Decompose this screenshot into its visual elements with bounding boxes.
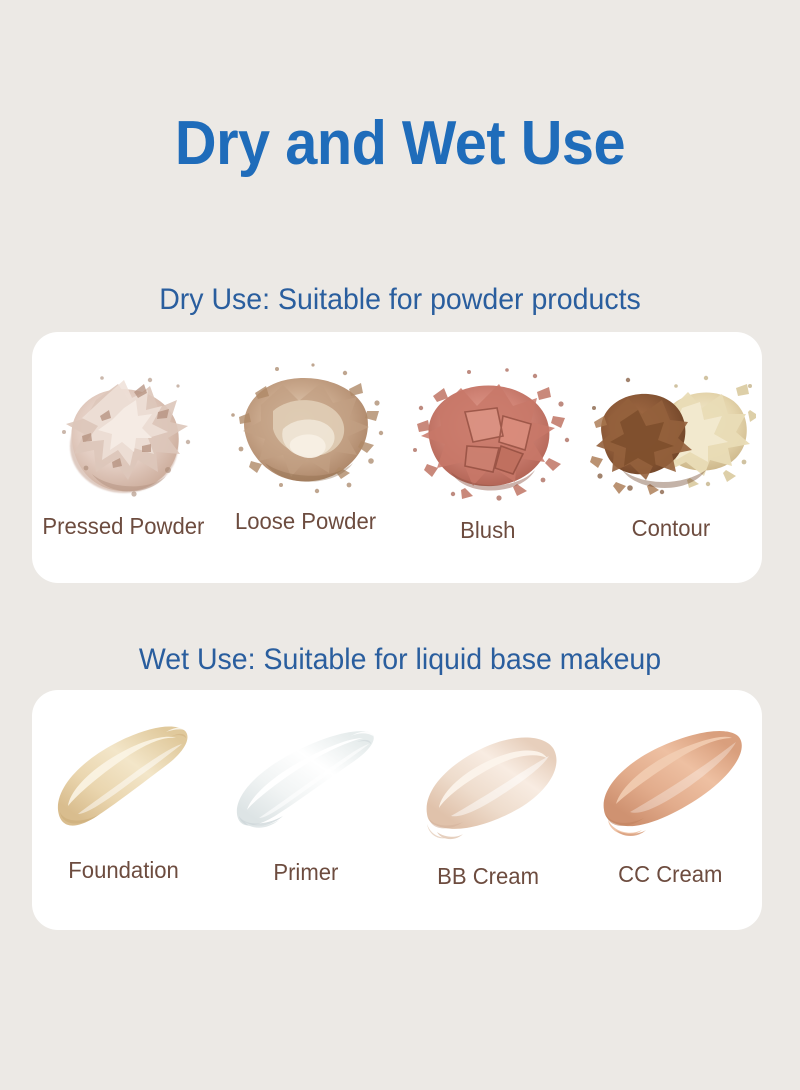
bb-cream-swatch [403,708,573,858]
product-item-contour: Contour [580,332,763,583]
primer-swatch [221,704,391,854]
product-item-cc-cream: CC Cream [580,690,763,930]
page-title: Dry and Wet Use [28,106,772,182]
product-label: CC Cream [619,860,723,888]
product-item-bb-cream: BB Cream [397,690,580,930]
infographic-page: Dry and Wet Use Dry Use: Suitable for po… [0,0,800,1090]
wet-swatch-row: Foundation [32,690,762,930]
product-label: Pressed Powder [42,512,204,540]
product-label: Contour [631,514,710,542]
dry-section-subtitle: Dry Use: Suitable for powder products [20,281,780,319]
loose-powder-swatch [221,345,391,505]
product-label: Blush [461,516,516,544]
product-item-blush: Blush [397,332,580,583]
wet-section-subtitle: Wet Use: Suitable for liquid base makeup [20,641,780,679]
pressed-powder-swatch [38,350,208,510]
product-label: Primer [273,858,338,886]
dry-swatch-row: Pressed Powder [32,332,762,583]
contour-swatch [586,352,756,512]
dry-products-card: Pressed Powder [32,332,762,583]
wet-products-card: Foundation [32,690,762,930]
product-label: Foundation [68,856,178,884]
foundation-swatch [38,702,208,852]
product-item-foundation: Foundation [32,690,215,930]
blush-swatch [403,354,573,514]
product-item-loose-powder: Loose Powder [215,332,398,583]
cc-cream-swatch [586,706,756,856]
product-label: BB Cream [437,862,539,890]
product-item-pressed-powder: Pressed Powder [32,332,215,583]
product-item-primer: Primer [215,690,398,930]
product-label: Loose Powder [235,507,376,535]
